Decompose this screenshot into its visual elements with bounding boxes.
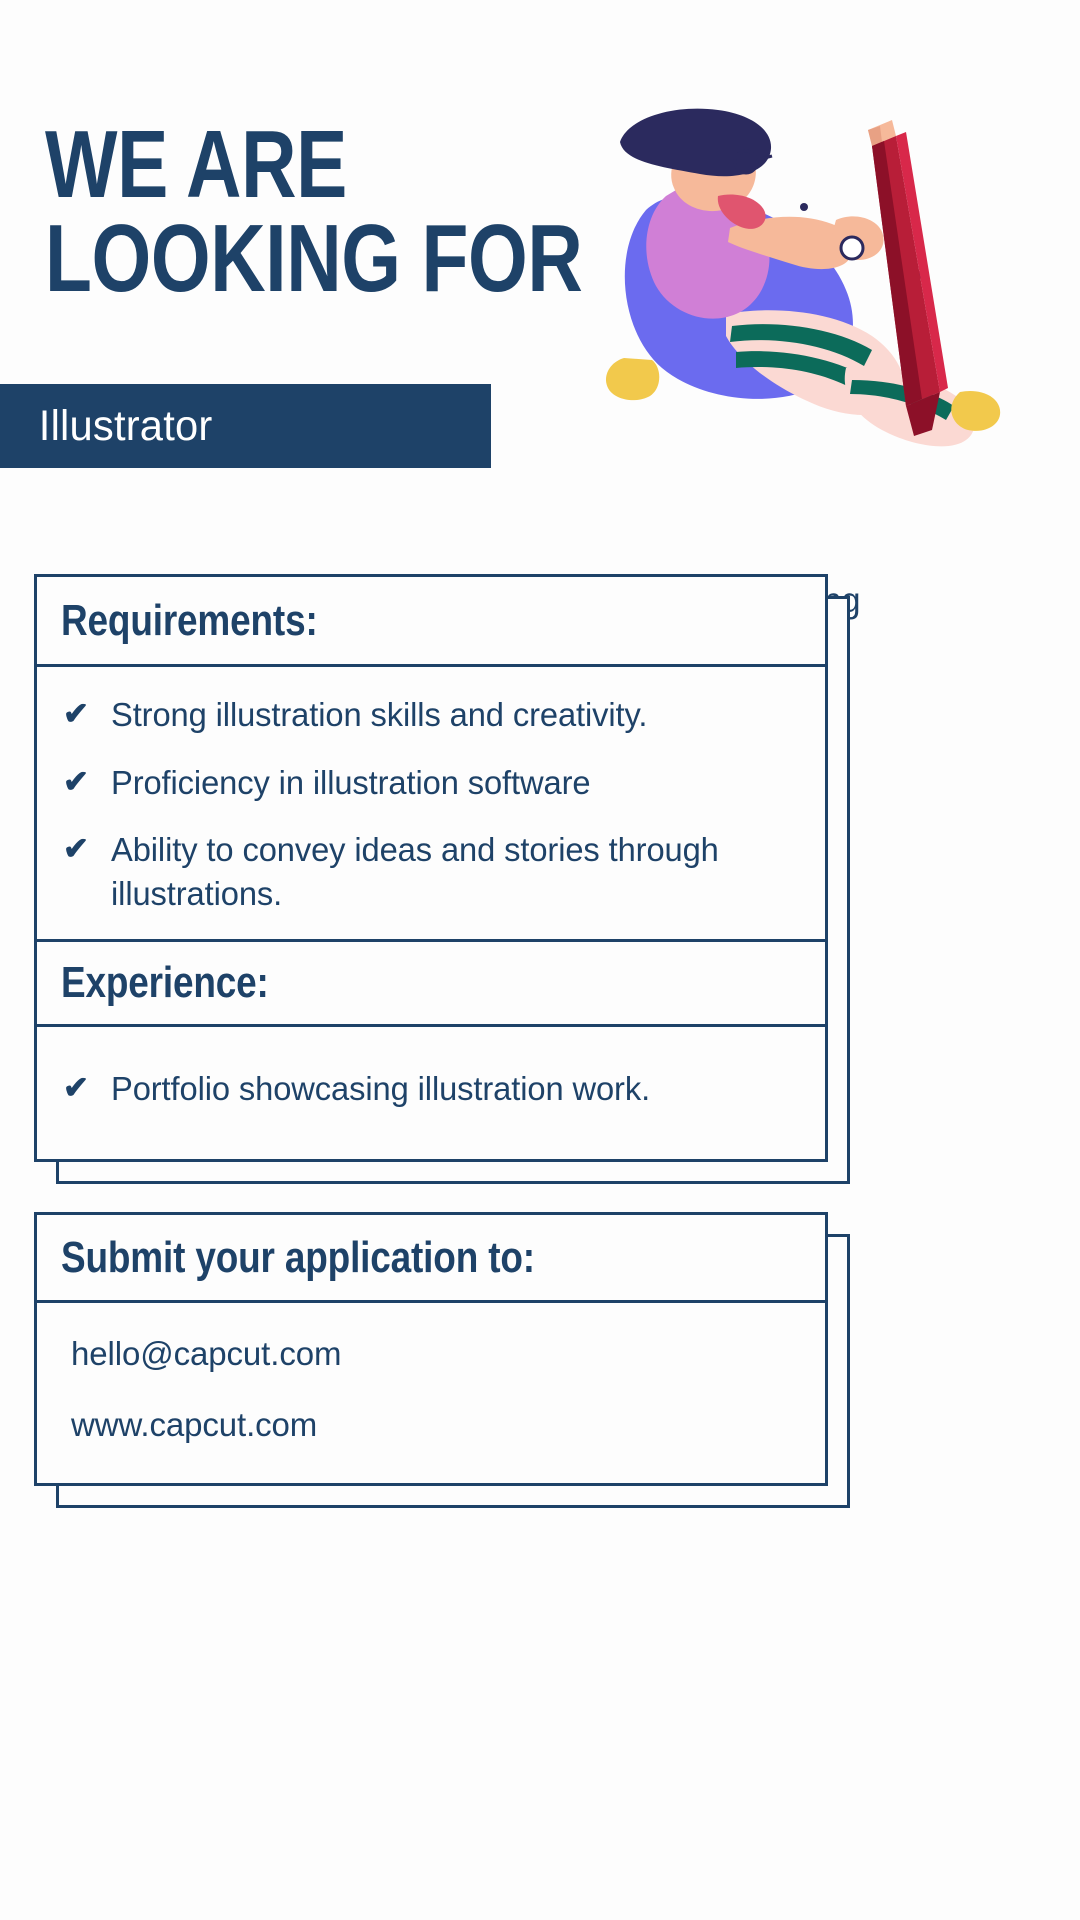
requirements-list: ✔ Strong illustration skills and creativ…: [37, 693, 825, 915]
check-icon: ✔: [63, 1067, 111, 1109]
requirements-card: Requirements: ✔ Strong illustration skil…: [34, 574, 828, 1162]
check-icon: ✔: [63, 828, 111, 870]
experience-heading-row: Experience:: [37, 939, 825, 1027]
list-item-label: Strong illustration skills and creativit…: [111, 693, 788, 737]
list-item-label: Ability to convey ideas and stories thro…: [111, 828, 788, 915]
requirements-card-body: Requirements: ✔ Strong illustration skil…: [34, 574, 828, 1162]
job-posting-poster: WE ARE LOOKING FOR Illustrator We're in …: [0, 0, 1080, 1920]
headline-line-1: WE ARE: [45, 118, 541, 212]
list-item: ✔ Ability to convey ideas and stories th…: [37, 828, 825, 915]
requirements-list-container: ✔ Strong illustration skills and creativ…: [37, 667, 825, 939]
list-item: ✔ Strong illustration skills and creativ…: [37, 693, 825, 737]
experience-list: ✔ Portfolio showcasing illustration work…: [37, 1067, 825, 1111]
contact-website[interactable]: www.capcut.com: [71, 1404, 825, 1447]
page-title: WE ARE LOOKING FOR: [45, 118, 541, 306]
role-title: Illustrator: [0, 402, 212, 451]
requirements-heading-row: Requirements:: [37, 577, 825, 667]
requirements-heading: Requirements:: [61, 596, 318, 646]
check-icon: ✔: [63, 693, 111, 735]
illustrator-with-giant-pencil-illustration: [600, 100, 1070, 500]
check-icon: ✔: [63, 761, 111, 803]
submit-application-card: Submit your application to: hello@capcut…: [34, 1212, 828, 1486]
list-item-label: Portfolio showcasing illustration work.: [111, 1067, 788, 1111]
role-banner: Illustrator: [0, 384, 491, 468]
contact-email[interactable]: hello@capcut.com: [71, 1333, 825, 1376]
experience-heading: Experience:: [61, 958, 269, 1008]
experience-list-container: ✔ Portfolio showcasing illustration work…: [37, 1027, 825, 1159]
submit-heading-row: Submit your application to:: [37, 1215, 825, 1303]
submit-application-card-body: Submit your application to: hello@capcut…: [34, 1212, 828, 1486]
submit-heading: Submit your application to:: [61, 1233, 535, 1283]
headline-line-2: LOOKING FOR: [45, 212, 541, 306]
list-item: ✔ Proficiency in illustration software: [37, 761, 825, 805]
list-item: ✔ Portfolio showcasing illustration work…: [37, 1067, 825, 1111]
contact-details: hello@capcut.com www.capcut.com: [37, 1303, 825, 1483]
list-item-label: Proficiency in illustration software: [111, 761, 788, 805]
